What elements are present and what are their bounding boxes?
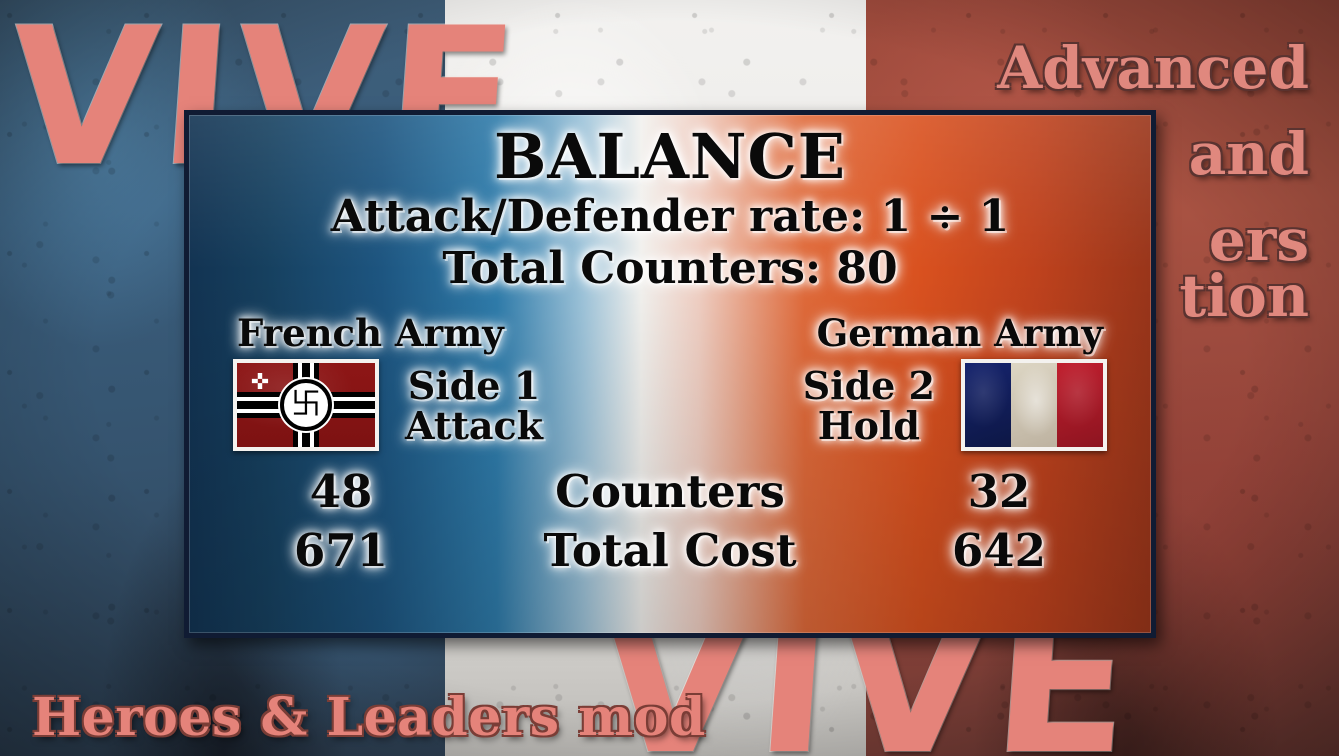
- counters-row: 48 Counters 32: [189, 465, 1151, 518]
- left-side-label: Side 1: [408, 365, 540, 407]
- right-counters-value: 32: [909, 465, 1089, 518]
- left-army-name: French Army: [237, 311, 504, 355]
- right-total-cost-value: 642: [909, 524, 1089, 577]
- side-row: ✜ 卐 Side 1 Attack Side 2 Hold: [189, 355, 1151, 451]
- right-side-text: Side 2 Hold: [803, 365, 935, 447]
- left-side-cell: ✜ 卐 Side 1 Attack: [233, 359, 543, 451]
- background-label-and: and: [1189, 120, 1309, 188]
- left-side-action: Attack: [405, 406, 543, 446]
- right-side-label: Side 2: [803, 365, 935, 407]
- total-counters-line: Total Counters: 80: [442, 244, 897, 294]
- swastika-icon: 卐: [291, 390, 321, 420]
- left-side-text: Side 1 Attack: [405, 365, 543, 447]
- iron-cross-icon: ✜: [249, 372, 271, 394]
- flag-stripe-red: [1057, 363, 1103, 447]
- balance-panel: BALANCE Attack/Defender rate: 1 ÷ 1 Tota…: [184, 110, 1156, 638]
- mod-credit-text: Heroes & Leaders mod: [32, 687, 706, 748]
- counters-row-label: Counters: [431, 465, 909, 518]
- total-cost-row: 671 Total Cost 642: [189, 524, 1151, 577]
- flag-roundel: 卐: [280, 379, 332, 431]
- right-army-name: German Army: [817, 311, 1103, 355]
- army-name-row: French Army German Army: [189, 295, 1151, 355]
- panel-title: BALANCE: [494, 125, 846, 188]
- flag-stripe-blue: [965, 363, 1011, 447]
- right-side-action: Hold: [818, 406, 920, 446]
- french-tricolor-flag-icon: [961, 359, 1107, 451]
- total-cost-row-label: Total Cost: [431, 524, 909, 577]
- flag-stripe-white: [1011, 363, 1057, 447]
- background-label-advanced: Advanced: [997, 34, 1309, 102]
- left-total-cost-value: 671: [251, 524, 431, 577]
- attack-defender-rate-line: Attack/Defender rate: 1 ÷ 1: [331, 192, 1010, 242]
- german-war-flag-icon: ✜ 卐: [233, 359, 379, 451]
- right-side-cell: Side 2 Hold: [803, 359, 1107, 451]
- background-label-tion: tion: [1179, 262, 1309, 330]
- left-counters-value: 48: [251, 465, 431, 518]
